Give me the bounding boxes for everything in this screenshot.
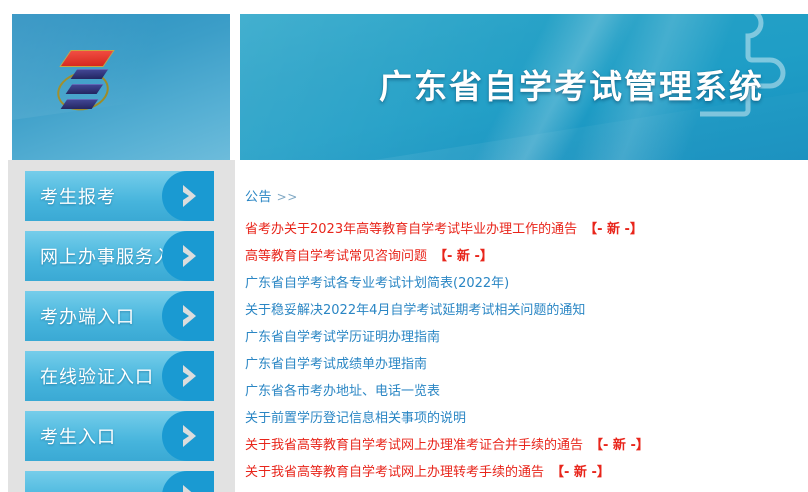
notice-item-text: 关于我省高等教育自学考试网上办理转考手续的通告	[245, 465, 544, 480]
body-area: 考生报考网上办事服务入口考办端入口在线验证入口考生入口 公告 >> 省考办关于2…	[0, 160, 808, 492]
logo-ring-shape	[54, 67, 113, 115]
header-banner: 广东省自学考试管理系统	[240, 14, 808, 160]
logo-bar-2	[66, 84, 104, 94]
notice-item[interactable]: 广东省各市考办地址、电话一览表	[245, 378, 808, 405]
logo-cap-shape	[59, 50, 114, 67]
notice-heading-more[interactable]: >>	[277, 190, 298, 204]
notice-item-text: 高等教育自学考试常见咨询问题	[245, 249, 427, 264]
notice-item[interactable]: 广东省自学考试各专业考试计划简表(2022年)	[245, 270, 808, 297]
notice-item[interactable]: 关于稳妥解决2022年4月自学考试延期考试相关问题的通知	[245, 297, 808, 324]
notice-new-badge: 【- 新 -】	[434, 249, 493, 264]
chevron-right-icon	[180, 423, 200, 449]
notice-heading-label: 公告	[245, 190, 272, 205]
sidebar-button-4[interactable]: 在线验证入口	[25, 351, 214, 401]
notice-item[interactable]: 省考办关于2023年高等教育自学考试毕业办理工作的通告【- 新 -】	[245, 216, 808, 243]
sidebar-button-5[interactable]: 考生入口	[25, 411, 214, 461]
notice-item-text: 关于稳妥解决2022年4月自学考试延期考试相关问题的通知	[245, 303, 585, 318]
notice-item[interactable]: 广东省自学考试学历证明办理指南	[245, 324, 808, 351]
sidebar-button-label: 在线验证入口	[40, 363, 154, 389]
notice-item[interactable]: 高等教育自学考试常见咨询问题【- 新 -】	[245, 243, 808, 270]
chevron-right-icon	[180, 303, 200, 329]
sidebar-button-1[interactable]: 考生报考	[25, 171, 214, 221]
logo-bar-1	[71, 69, 109, 79]
sidebar-button-3[interactable]: 考办端入口	[25, 291, 214, 341]
sidebar-button-6[interactable]	[25, 471, 214, 492]
notice-item[interactable]: 关于我省高等教育自学考试网上办理转考手续的通告【- 新 -】	[245, 459, 808, 486]
logo-panel	[12, 14, 230, 160]
notice-item[interactable]: 关于前置学历登记信息相关事项的说明	[245, 405, 808, 432]
site-logo-icon	[55, 48, 135, 132]
chevron-right-icon	[180, 363, 200, 389]
chevron-right-icon	[180, 183, 200, 209]
notice-item-text: 广东省自学考试学历证明办理指南	[245, 330, 440, 345]
site-header: 广东省自学考试管理系统	[0, 0, 808, 160]
notice-item[interactable]: 广东省自学考试成绩单办理指南	[245, 351, 808, 378]
notice-list: 省考办关于2023年高等教育自学考试毕业办理工作的通告【- 新 -】高等教育自学…	[245, 216, 808, 486]
notice-new-badge: 【- 新 -】	[584, 222, 643, 237]
sidebar-button-2[interactable]: 网上办事服务入口	[25, 231, 214, 281]
notice-item-text: 省考办关于2023年高等教育自学考试毕业办理工作的通告	[245, 222, 577, 237]
logo-bar-3	[61, 99, 99, 109]
notice-item-text: 广东省各市考办地址、电话一览表	[245, 384, 440, 399]
notice-new-badge: 【- 新 -】	[590, 438, 649, 453]
notice-item-text: 关于我省高等教育自学考试网上办理准考证合并手续的通告	[245, 438, 583, 453]
sidebar: 考生报考网上办事服务入口考办端入口在线验证入口考生入口	[8, 160, 235, 492]
sidebar-button-label: 考办端入口	[40, 303, 135, 329]
notice-item-text: 广东省自学考试成绩单办理指南	[245, 357, 427, 372]
notice-heading[interactable]: 公告 >>	[245, 186, 808, 205]
notice-new-badge: 【- 新 -】	[551, 465, 610, 480]
chevron-right-icon	[180, 483, 200, 492]
sidebar-button-label: 考生入口	[40, 423, 116, 449]
sidebar-button-label: 考生报考	[40, 183, 116, 209]
page-title: 广东省自学考试管理系统	[379, 60, 764, 108]
page-root: 广东省自学考试管理系统 考生报考网上办事服务入口考办端入口在线验证入口考生入口 …	[0, 0, 808, 492]
notice-item-text: 关于前置学历登记信息相关事项的说明	[245, 411, 466, 426]
chevron-right-icon	[180, 243, 200, 269]
notice-item[interactable]: 关于我省高等教育自学考试网上办理准考证合并手续的通告【- 新 -】	[245, 432, 808, 459]
content-panel: 公告 >> 省考办关于2023年高等教育自学考试毕业办理工作的通告【- 新 -】…	[237, 160, 808, 492]
notice-item-text: 广东省自学考试各专业考试计划简表(2022年)	[245, 276, 509, 291]
